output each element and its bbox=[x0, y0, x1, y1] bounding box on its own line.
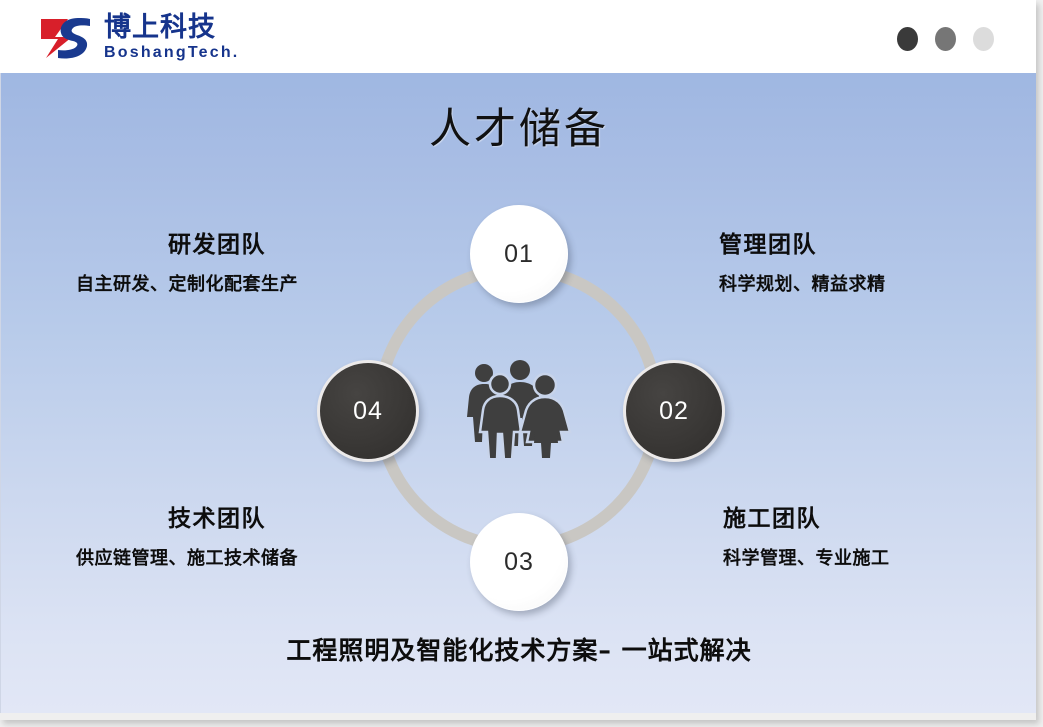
node-02-number: 02 bbox=[659, 397, 689, 426]
label-construction-team-subtitle: 科学管理、专业施工 bbox=[723, 544, 1023, 570]
node-04[interactable]: 04 bbox=[317, 360, 419, 462]
cycle-diagram: 01 02 03 04 bbox=[323, 213, 713, 603]
slide-body: 人才储备 研发团队 自主研发、定制化配套生产 管理团队 科学规划、精益求精 技术… bbox=[0, 73, 1036, 713]
node-03-number: 03 bbox=[504, 548, 534, 577]
presentation-slide: 博上科技 BoshangTech. 人才储备 研发团队 自主研发、定制化配套生产… bbox=[0, 0, 1036, 720]
label-construction-team-title: 施工团队 bbox=[723, 499, 1023, 533]
label-management-team: 管理团队 科学规划、精益求精 bbox=[719, 225, 1019, 296]
slide-header: 博上科技 BoshangTech. bbox=[0, 0, 1036, 74]
page-title: 人才储备 bbox=[1, 95, 1036, 156]
dot-light-icon bbox=[973, 27, 994, 51]
header-dots-decoration bbox=[897, 27, 994, 51]
logo-wordmark: 博上科技 BoshangTech. bbox=[104, 14, 239, 63]
node-04-number: 04 bbox=[353, 397, 383, 426]
label-management-team-title: 管理团队 bbox=[719, 225, 1019, 259]
node-02[interactable]: 02 bbox=[623, 360, 725, 462]
node-01-number: 01 bbox=[504, 240, 534, 269]
label-management-team-subtitle: 科学规划、精益求精 bbox=[719, 270, 1019, 296]
logo-mark-icon bbox=[38, 15, 98, 61]
slide-footer-note: 工程照明及智能化技术方案– 一站式解决 bbox=[1, 631, 1036, 667]
slide-bottom-strip bbox=[0, 713, 1036, 720]
logo-name-cn: 博上科技 bbox=[104, 14, 239, 42]
company-logo: 博上科技 BoshangTech. bbox=[38, 14, 239, 63]
node-01[interactable]: 01 bbox=[470, 205, 568, 303]
people-group-icon bbox=[462, 358, 574, 458]
dot-medium-icon bbox=[935, 27, 956, 51]
node-03[interactable]: 03 bbox=[470, 513, 568, 611]
dot-dark-icon bbox=[897, 27, 918, 51]
label-construction-team: 施工团队 科学管理、专业施工 bbox=[723, 499, 1023, 570]
logo-name-en: BoshangTech. bbox=[104, 43, 239, 62]
